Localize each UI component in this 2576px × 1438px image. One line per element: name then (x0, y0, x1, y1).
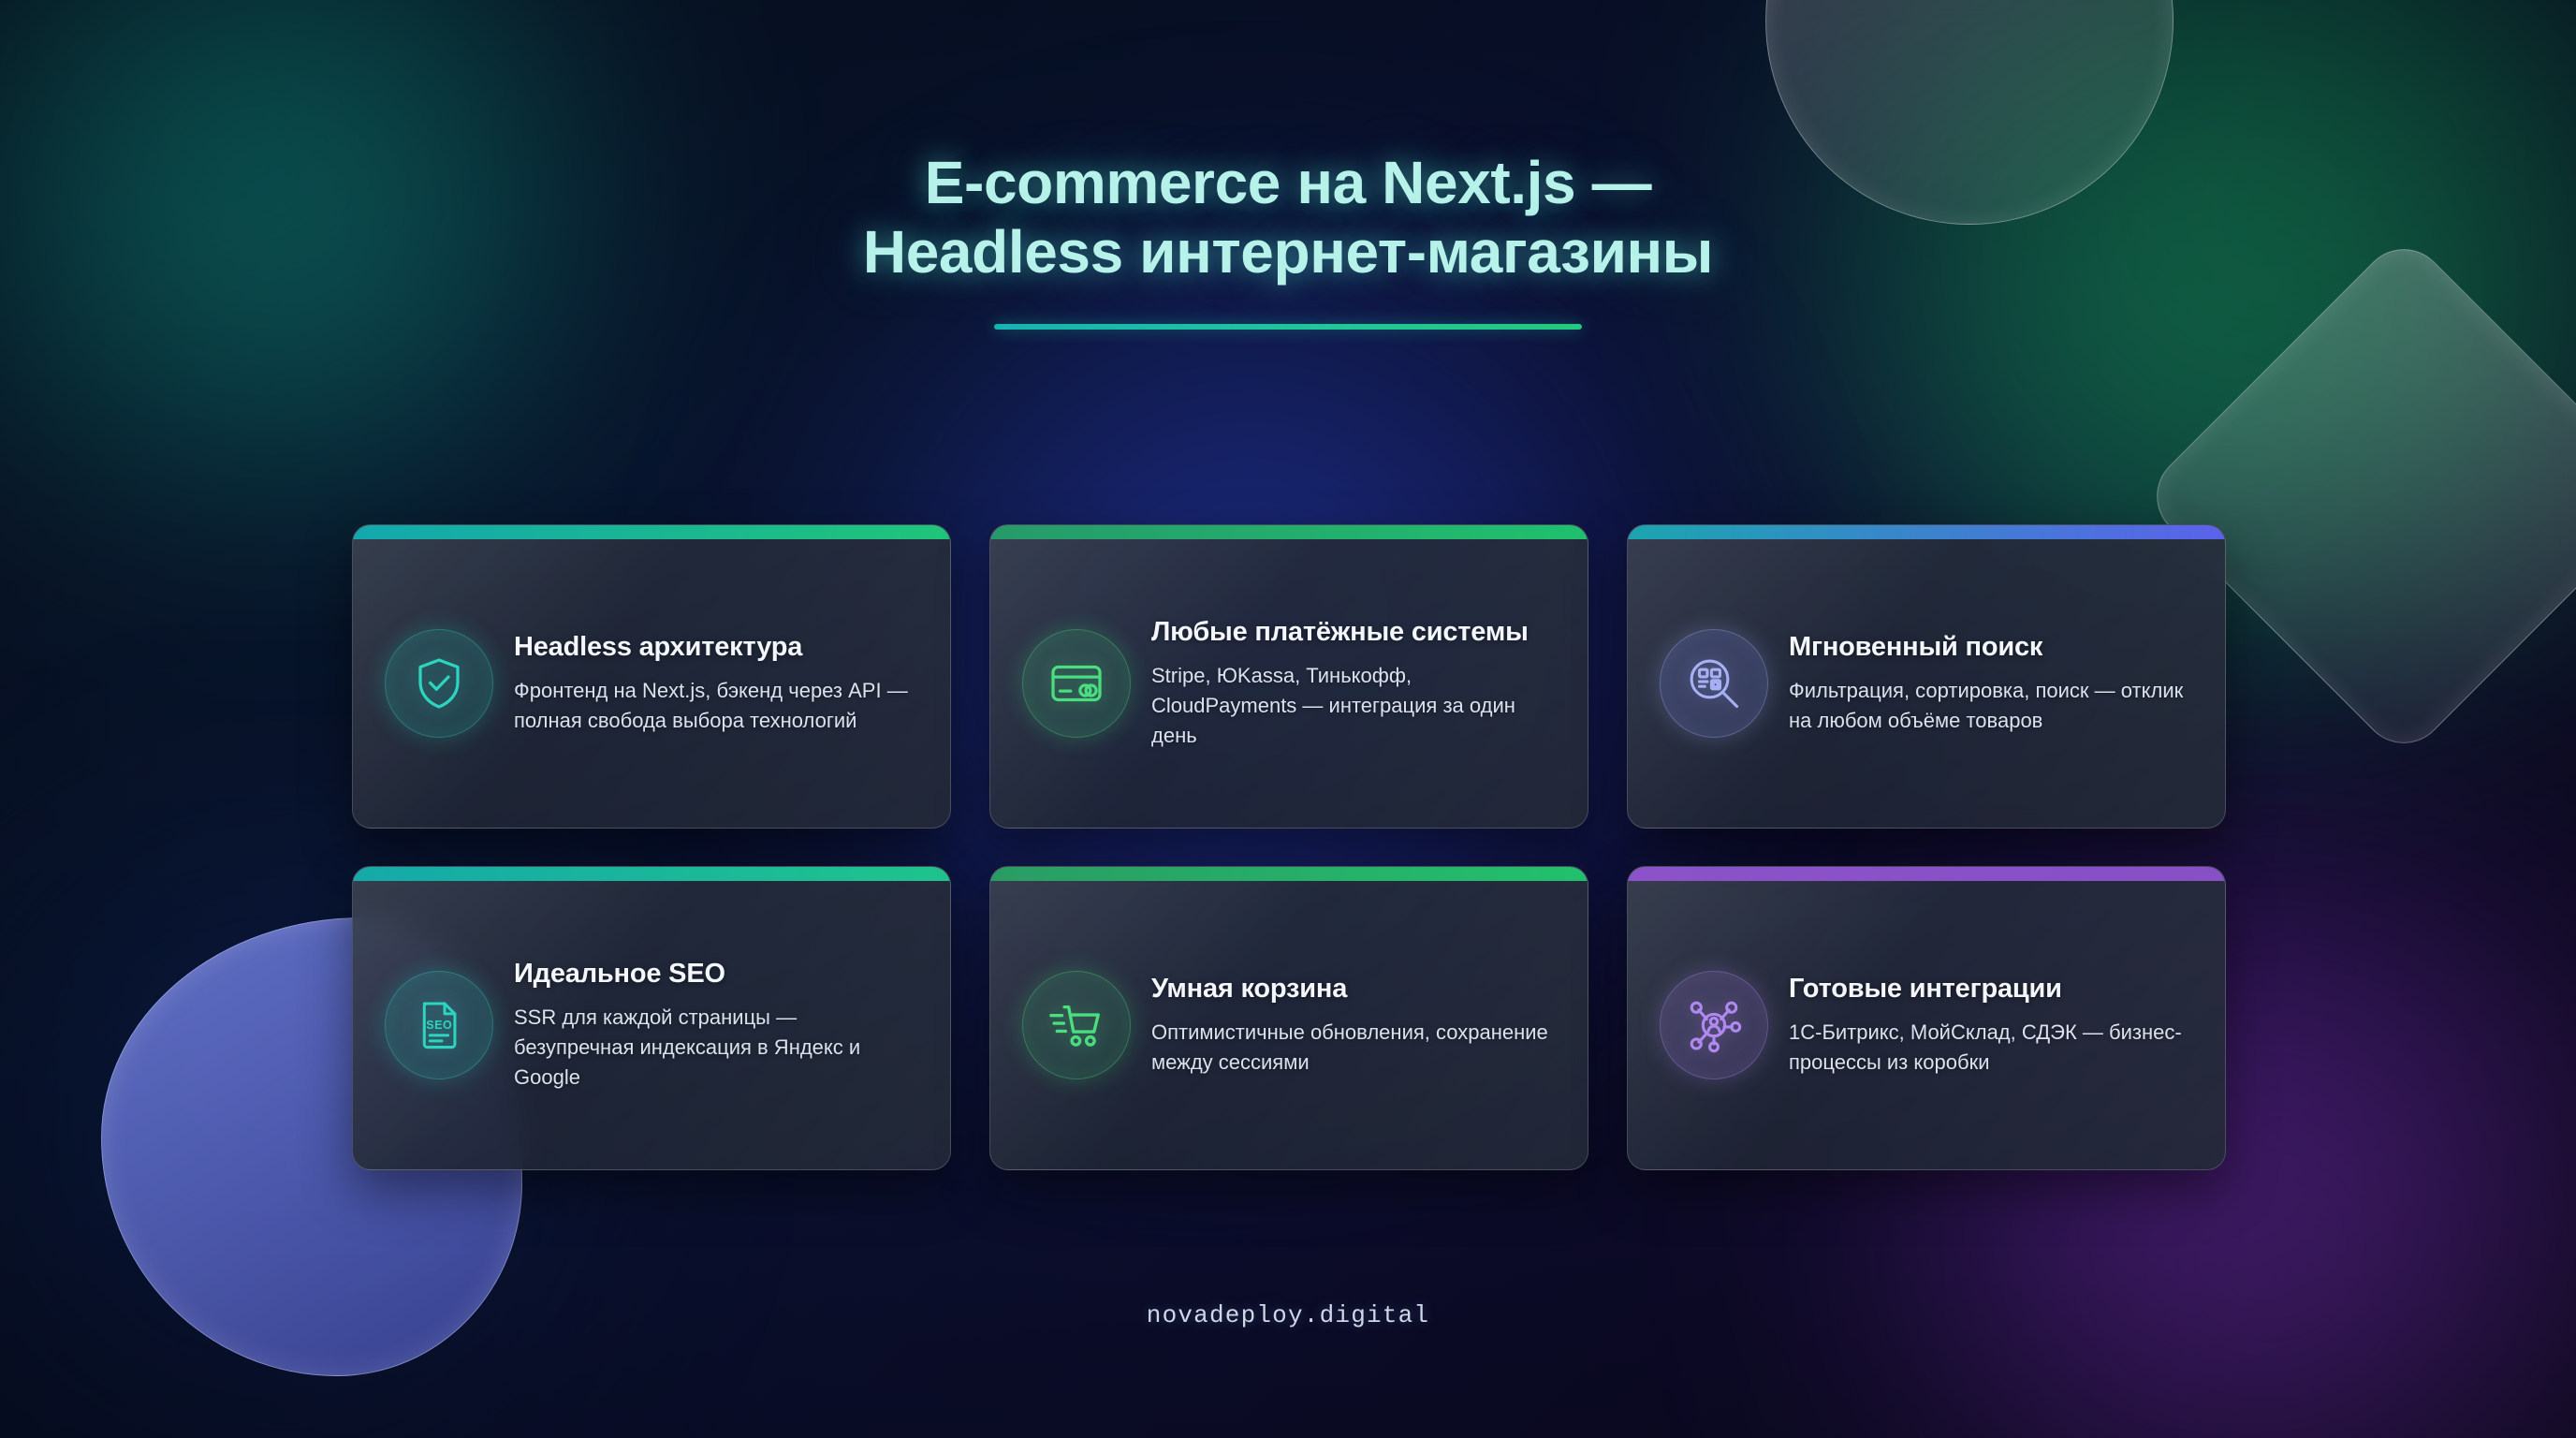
card-accent-bar (1628, 867, 2225, 881)
credit-card-icon (1022, 629, 1131, 738)
card-text-block: Мгновенный поискФильтрация, сортировка, … (1789, 631, 2193, 736)
shopping-cart-icon (1022, 971, 1131, 1079)
card-accent-bar (990, 867, 1588, 881)
card-title: Умная корзина (1151, 973, 1556, 1005)
title-line-2: Headless интернет-магазины (0, 217, 2576, 286)
feature-card-ready-integrations[interactable]: Готовые интеграции1С-Битрикс, МойСклад, … (1627, 866, 2226, 1170)
feature-card-perfect-seo[interactable]: SEO Идеальное SEOSSR для каждой страницы… (352, 866, 951, 1170)
card-description: SSR для каждой страницы — безупречная ин… (514, 1003, 918, 1093)
card-text-block: Любые платёжные системыStripe, ЮKassa, Т… (1151, 616, 1556, 751)
card-description: Фильтрация, сортировка, поиск — отклик н… (1789, 676, 2193, 736)
card-description: Оптимистичные обновления, сохранение меж… (1151, 1018, 1556, 1078)
title-line-1: E-commerce на Next.js — (0, 148, 2576, 217)
card-description: Stripe, ЮKassa, Тинькофф, CloudPayments … (1151, 661, 1556, 751)
card-accent-bar (1628, 525, 2225, 539)
card-body: Умная корзинаОптимистичные обновления, с… (990, 881, 1588, 1169)
card-body: Готовые интеграции1С-Битрикс, МойСклад, … (1628, 881, 2225, 1169)
card-accent-bar (353, 867, 950, 881)
magnifier-grid-icon (1660, 629, 1768, 738)
shield-check-icon (385, 629, 493, 738)
feature-card-instant-search[interactable]: Мгновенный поискФильтрация, сортировка, … (1627, 524, 2226, 829)
feature-card-headless-architecture[interactable]: Headless архитектураФронтенд на Next.js,… (352, 524, 951, 829)
card-title: Headless архитектура (514, 631, 918, 664)
slide-content: E-commerce на Next.js — Headless интерне… (0, 0, 2576, 1438)
card-description: Фронтенд на Next.js, бэкенд через API — … (514, 676, 918, 736)
card-body: Headless архитектураФронтенд на Next.js,… (353, 539, 950, 828)
card-body: Мгновенный поискФильтрация, сортировка, … (1628, 539, 2225, 828)
footer-domain: novadeploy.digital (0, 1301, 2576, 1329)
card-accent-bar (353, 525, 950, 539)
card-body: Любые платёжные системыStripe, ЮKassa, Т… (990, 539, 1588, 828)
card-text-block: Готовые интеграции1С-Битрикс, МойСклад, … (1789, 973, 2193, 1078)
feature-card-payment-systems[interactable]: Любые платёжные системыStripe, ЮKassa, Т… (989, 524, 1588, 829)
card-body: SEO Идеальное SEOSSR для каждой страницы… (353, 881, 950, 1169)
page-title: E-commerce на Next.js — Headless интерне… (0, 148, 2576, 330)
card-title: Любые платёжные системы (1151, 616, 1556, 649)
svg-text:SEO: SEO (426, 1019, 452, 1032)
feature-cards-grid: Headless архитектураФронтенд на Next.js,… (352, 524, 2226, 1170)
card-text-block: Headless архитектураФронтенд на Next.js,… (514, 631, 918, 736)
card-description: 1С-Битрикс, МойСклад, СДЭК — бизнес-проц… (1789, 1018, 2193, 1078)
card-title: Готовые интеграции (1789, 973, 2193, 1005)
card-title: Идеальное SEO (514, 958, 918, 990)
card-text-block: Идеальное SEOSSR для каждой страницы — б… (514, 958, 918, 1093)
card-text-block: Умная корзинаОптимистичные обновления, с… (1151, 973, 1556, 1078)
card-accent-bar (990, 525, 1588, 539)
title-underline-rule (994, 324, 1582, 330)
card-title: Мгновенный поиск (1789, 631, 2193, 664)
seo-document-icon: SEO (385, 971, 493, 1079)
feature-card-smart-cart[interactable]: Умная корзинаОптимистичные обновления, с… (989, 866, 1588, 1170)
network-nodes-icon (1660, 971, 1768, 1079)
